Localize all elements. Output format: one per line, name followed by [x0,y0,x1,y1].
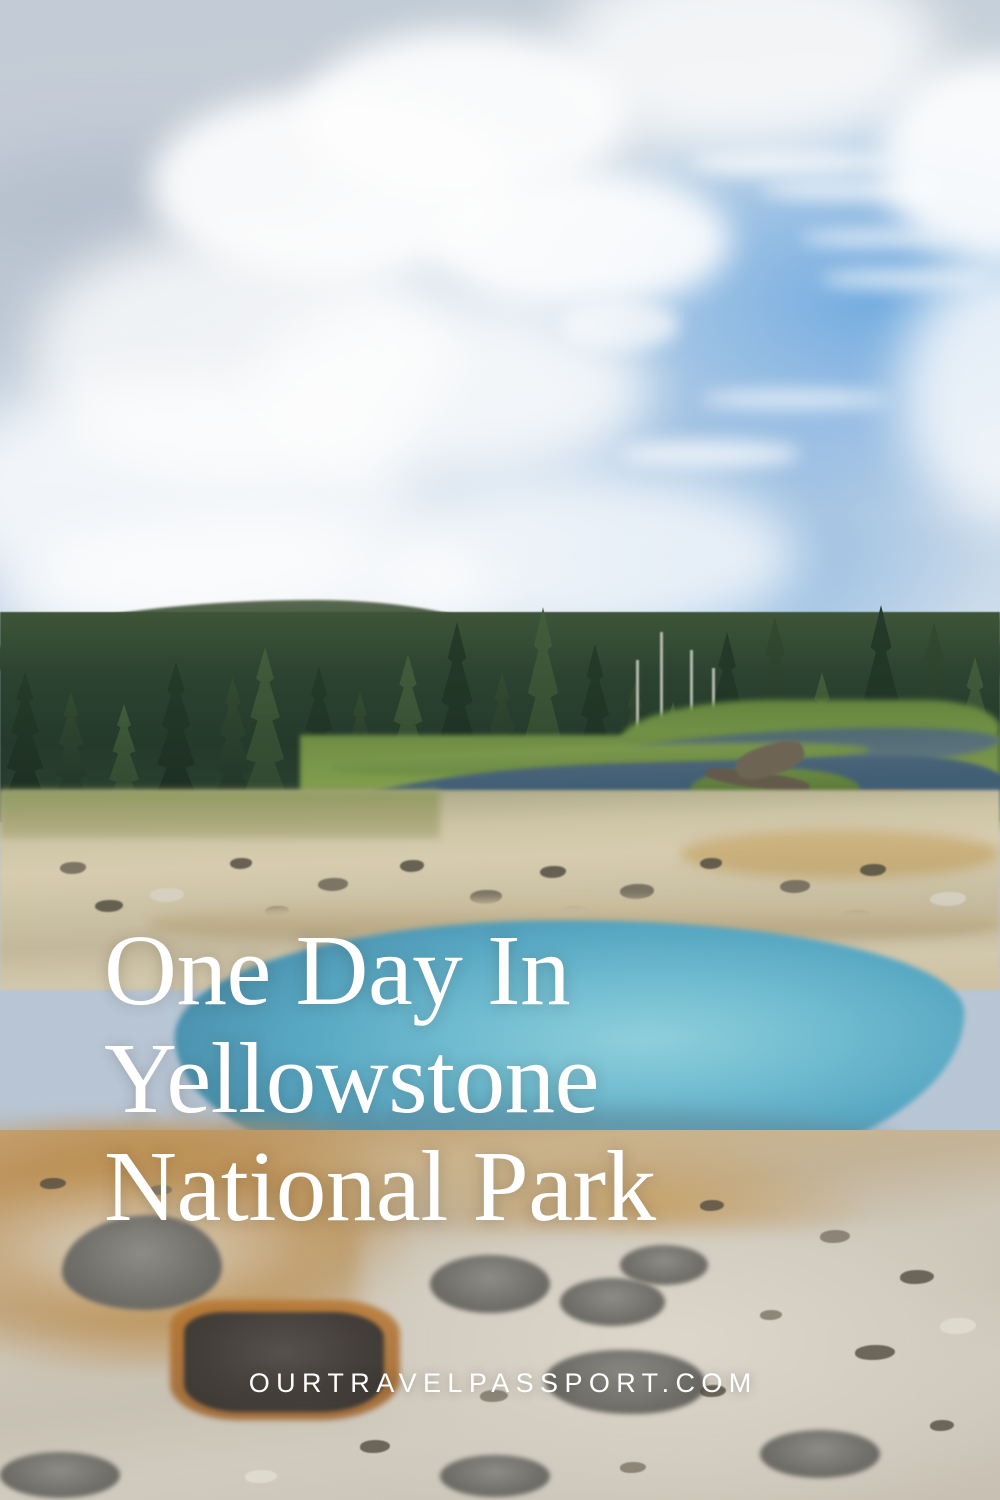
pinterest-pin-graphic: One Day In Yellowstone National Park OUR… [0,0,1000,1500]
thermal-puddle [560,1278,665,1326]
page-title: One Day In Yellowstone National Park [104,916,884,1240]
thermal-puddle [0,1452,120,1498]
thermal-puddle [440,1455,550,1497]
cloud-shape [690,150,900,176]
cloud-shape [700,390,890,408]
thermal-puddle [760,1430,880,1478]
terrace-orange-patch [680,830,1000,878]
site-url-footer: OURTRAVELPASSPORT.COM [0,1368,1000,1399]
terrace-grass-patch [0,790,440,838]
cloud-shape [560,300,680,350]
thermal-puddle [430,1255,550,1313]
cloud-shape [430,170,730,310]
background-photo [0,0,1000,1500]
thermal-puddle [620,1245,708,1285]
cloud-shape [620,440,800,468]
